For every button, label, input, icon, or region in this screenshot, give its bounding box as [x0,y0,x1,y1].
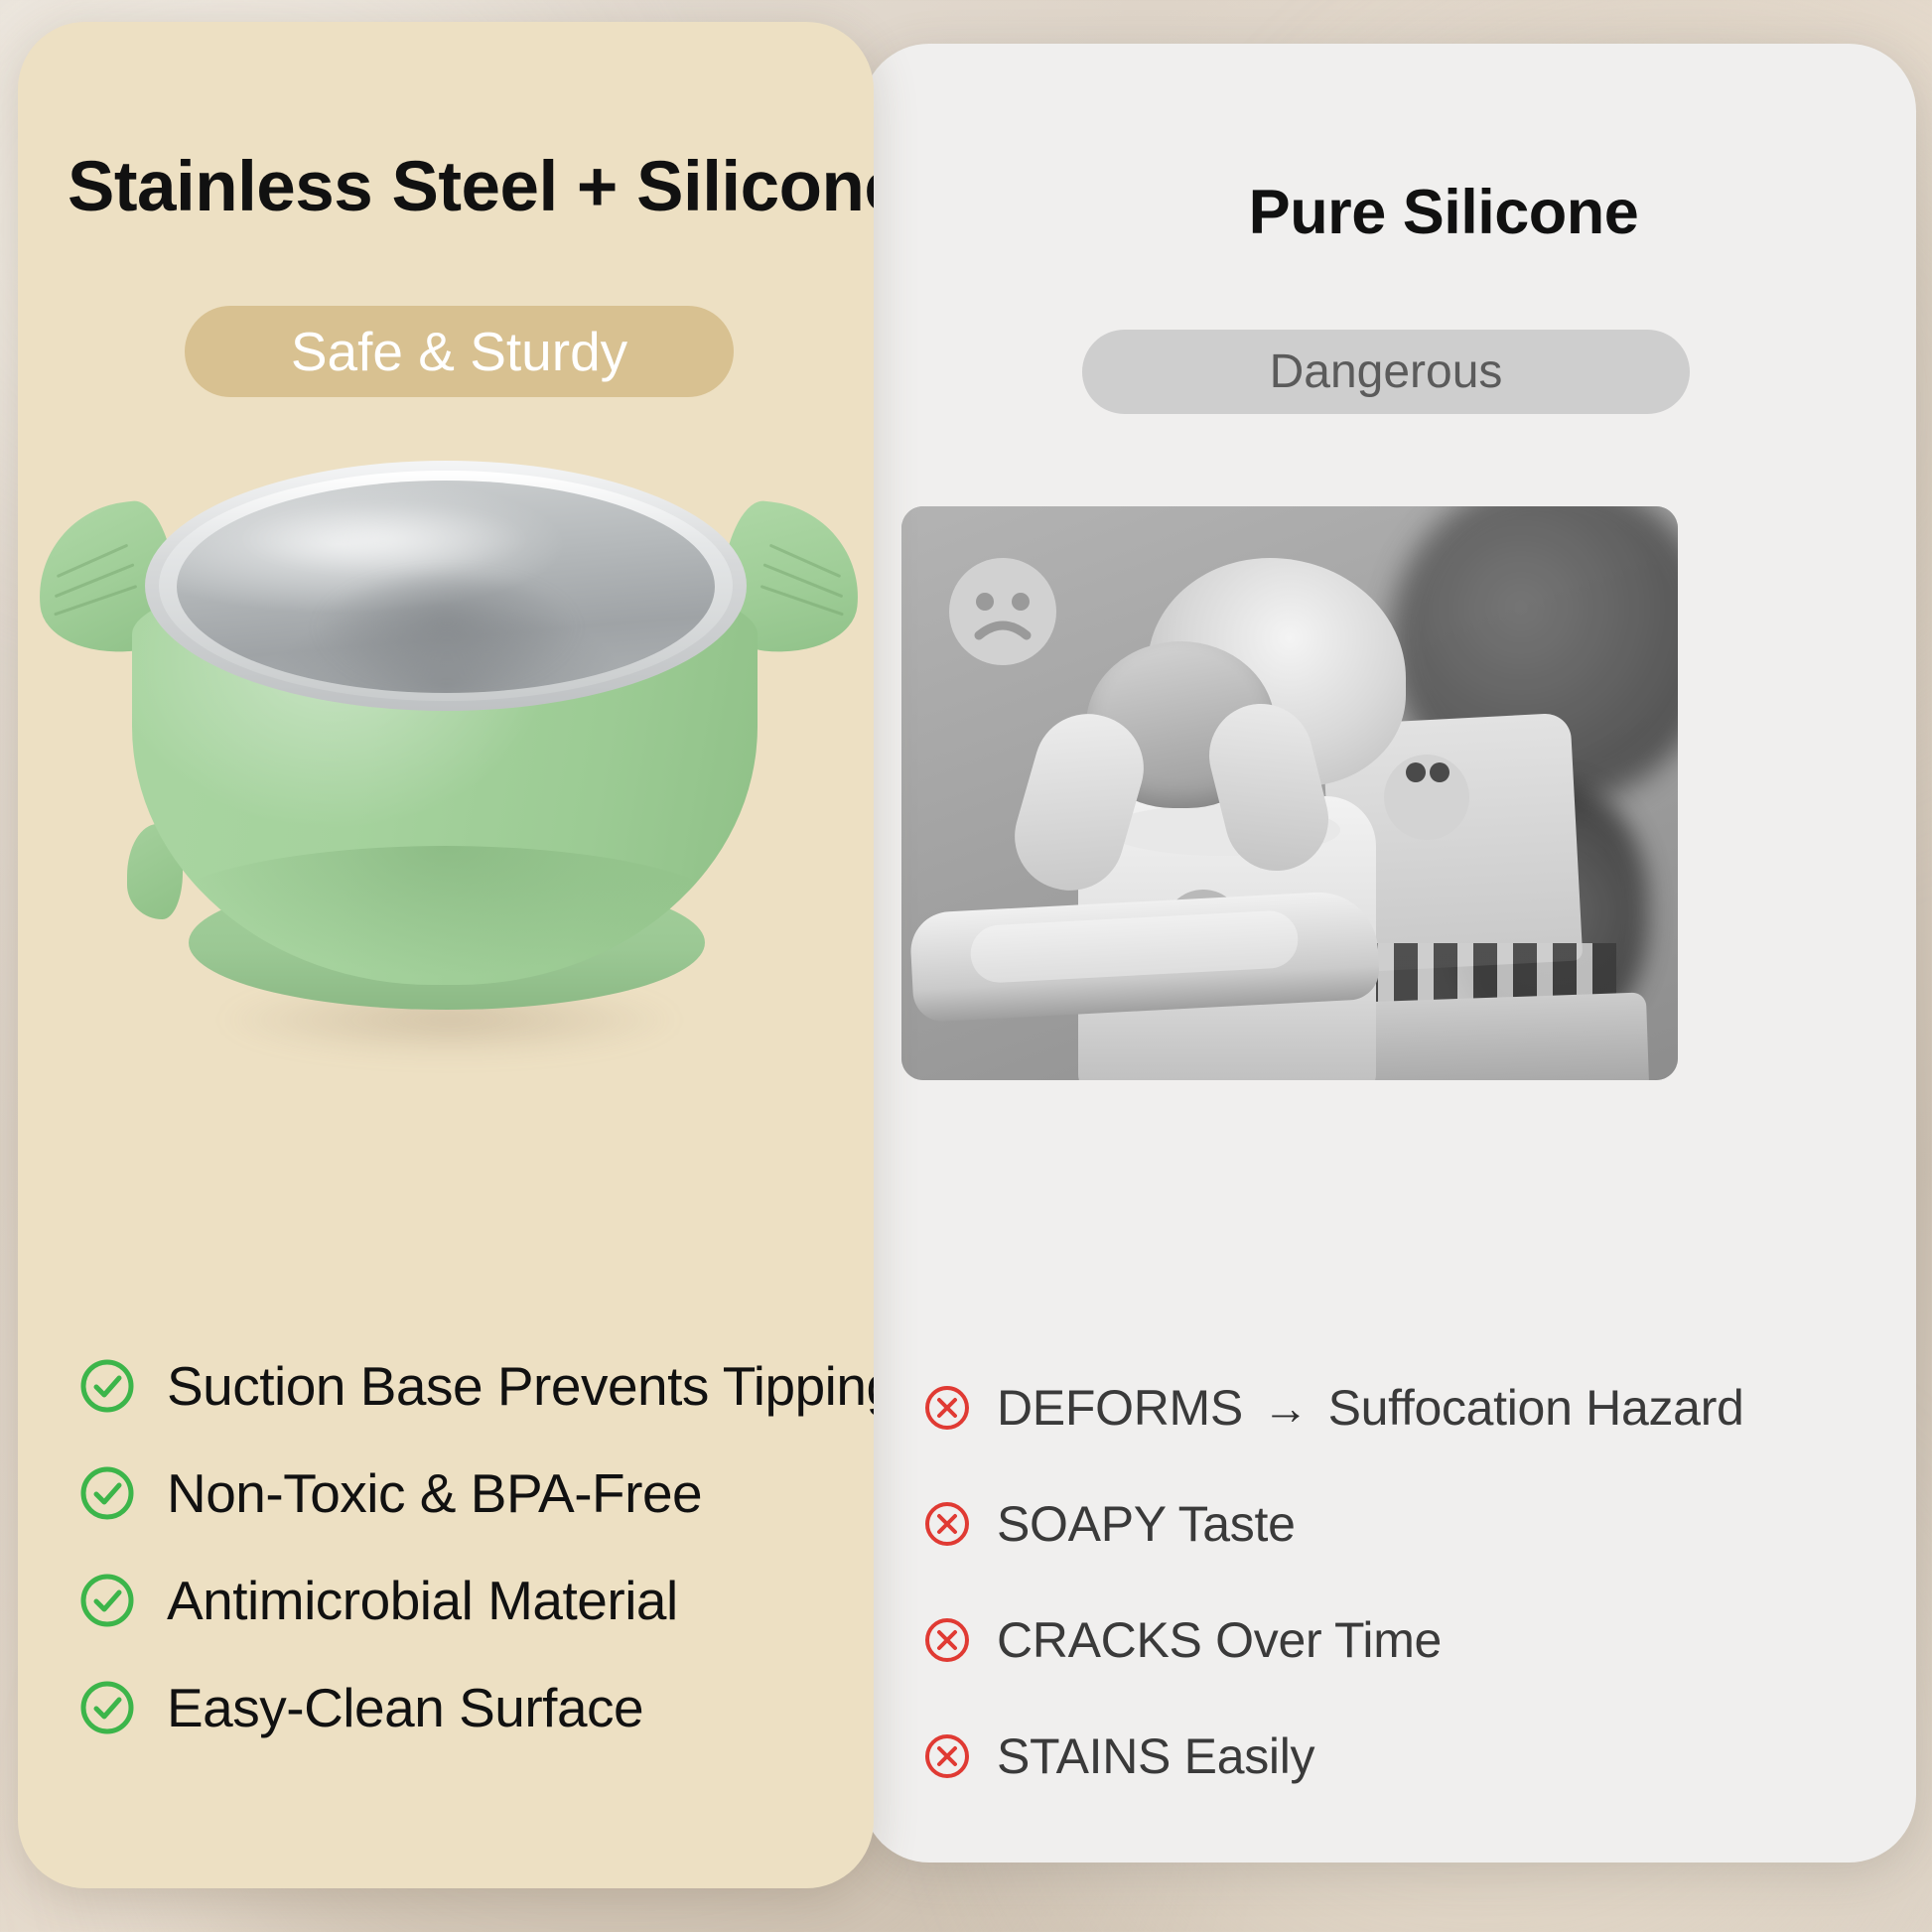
photo-highchair-bear-motif [1384,755,1469,840]
x-circle-icon [923,1732,971,1780]
good-panel-title: Stainless Steel + Silicone [68,147,874,227]
feature-label: Non-Toxic & BPA-Free [167,1461,702,1525]
arrow-right-icon: → [1263,1385,1309,1431]
con-label-group: CRACKS Over Time [997,1611,1442,1669]
check-circle-icon [79,1680,135,1735]
list-item: STAINS Easily [923,1698,1896,1814]
list-item: SOAPY Taste [923,1465,1896,1582]
good-product-panel: Stainless Steel + Silicone Safe & Sturdy [18,22,874,1888]
con-label: DEFORMS [997,1379,1243,1437]
x-circle-icon [923,1500,971,1548]
feature-label: Easy-Clean Surface [167,1676,643,1739]
sad-face-icon [945,554,1060,669]
dangerous-badge-label: Dangerous [1270,345,1503,399]
bad-panel-title: Pure Silicone [862,177,1916,248]
con-label: CRACKS Over Time [997,1611,1442,1669]
con-consequence: Suffocation Hazard [1328,1379,1744,1437]
con-label: SOAPY Taste [997,1495,1296,1553]
product-image-bowl [18,419,874,1203]
feature-list: Suction Base Prevents Tipping Non-Toxic … [79,1332,874,1761]
con-label: STAINS Easily [997,1727,1314,1785]
check-circle-icon [79,1465,135,1521]
list-item: CRACKS Over Time [923,1582,1896,1698]
safe-sturdy-badge-label: Safe & Sturdy [291,320,627,383]
list-item: DEFORMS → Suffocation Hazard [923,1349,1896,1465]
steel-highlight [234,502,532,576]
list-item: Non-Toxic & BPA-Free [79,1440,874,1547]
feature-label: Antimicrobial Material [167,1569,678,1632]
bad-product-panel: Pure Silicone Dangerous [862,44,1916,1863]
con-label-group: SOAPY Taste [997,1495,1296,1553]
dangerous-badge: Dangerous [1082,330,1690,414]
x-circle-icon [923,1384,971,1432]
hazard-photo [901,506,1678,1080]
comparison-stage: Stainless Steel + Silicone Safe & Sturdy [0,0,1932,1932]
x-circle-icon [923,1616,971,1664]
check-circle-icon [79,1358,135,1414]
con-label-group: STAINS Easily [997,1727,1314,1785]
bowl-body-crease [147,846,743,995]
steel-bottom-well [318,576,576,691]
feature-label: Suction Base Prevents Tipping [167,1354,874,1418]
list-item: Antimicrobial Material [79,1547,874,1654]
safe-sturdy-badge: Safe & Sturdy [185,306,734,397]
check-circle-icon [79,1573,135,1628]
list-item: Suction Base Prevents Tipping [79,1332,874,1440]
con-label-group: DEFORMS → Suffocation Hazard [997,1379,1744,1437]
list-item: Easy-Clean Surface [79,1654,874,1761]
cons-list: DEFORMS → Suffocation Hazard SOAPY Taste [923,1349,1896,1814]
bowl-steel-interior [177,481,715,693]
